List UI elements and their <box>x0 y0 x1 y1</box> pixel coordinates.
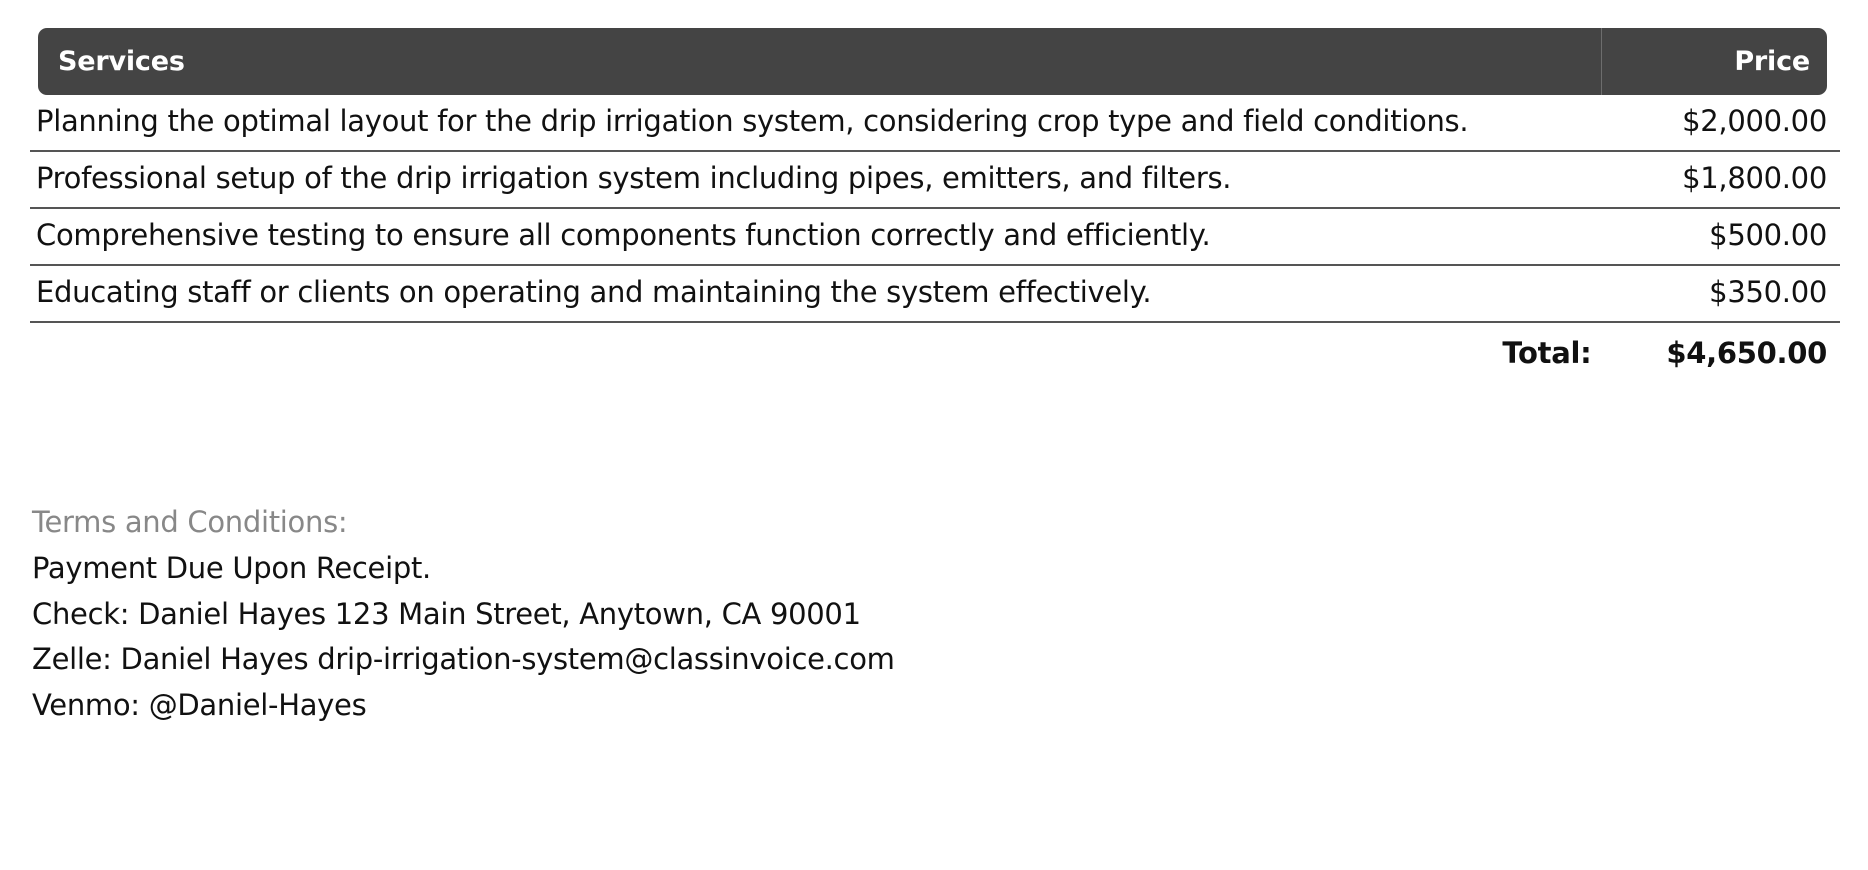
terms-line-check: Check: Daniel Hayes 123 Main Street, Any… <box>32 592 1632 638</box>
service-price: $1,800.00 <box>1527 152 1840 207</box>
invoice-document: Services Price Planning the optimal layo… <box>0 0 1868 870</box>
terms-line-zelle: Zelle: Daniel Hayes drip-irrigation-syst… <box>32 637 1632 683</box>
service-price: $2,000.00 <box>1527 95 1840 150</box>
table-row: Professional setup of the drip irrigatio… <box>30 152 1840 209</box>
column-header-price: Price <box>1602 48 1827 75</box>
service-description: Educating staff or clients on operating … <box>30 266 1527 321</box>
service-description: Professional setup of the drip irrigatio… <box>30 152 1527 207</box>
services-price-table: Services Price Planning the optimal layo… <box>30 28 1840 370</box>
table-header-row: Services Price <box>38 28 1827 95</box>
terms-line-venmo: Venmo: @Daniel-Hayes <box>32 683 1632 729</box>
table-row: Comprehensive testing to ensure all comp… <box>30 209 1840 266</box>
total-row: Total: $4,650.00 <box>30 323 1840 370</box>
service-description: Comprehensive testing to ensure all comp… <box>30 209 1527 264</box>
total-value: $4,650.00 <box>1666 336 1840 370</box>
table-row: Planning the optimal layout for the drip… <box>30 95 1840 152</box>
service-price: $350.00 <box>1527 266 1840 321</box>
column-header-services: Services <box>38 48 1601 75</box>
terms-and-conditions-section: Terms and Conditions: Payment Due Upon R… <box>32 500 1632 729</box>
table-row: Educating staff or clients on operating … <box>30 266 1840 323</box>
service-price: $500.00 <box>1527 209 1840 264</box>
total-label: Total: <box>1502 336 1666 370</box>
service-description: Planning the optimal layout for the drip… <box>30 95 1527 150</box>
terms-title: Terms and Conditions: <box>32 500 1632 546</box>
terms-line-payment: Payment Due Upon Receipt. <box>32 546 1632 592</box>
